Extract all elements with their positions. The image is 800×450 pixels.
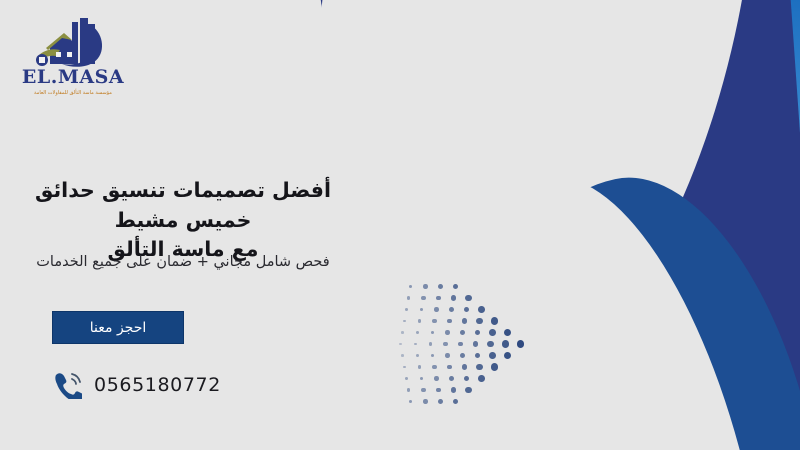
chevron-dot bbox=[462, 364, 468, 370]
chevron-dot bbox=[405, 308, 408, 311]
phone-number: 0565180772 bbox=[94, 374, 221, 396]
chevron-dot bbox=[431, 331, 435, 335]
chevron-dot bbox=[475, 330, 481, 336]
chevron-dot bbox=[478, 306, 485, 313]
chevron-dot bbox=[504, 352, 511, 359]
chevron-dot bbox=[487, 341, 493, 347]
brand-logo[interactable]: EL.MASA مؤسسة ماسة التألق للمقاولات العا… bbox=[14, 16, 132, 98]
chevron-dot bbox=[418, 319, 422, 323]
chevron-dot bbox=[432, 365, 436, 369]
page-title: أفضل تصميمات تنسيق حدائق خميس مشيط مع ما… bbox=[18, 176, 348, 265]
chevron-dot bbox=[491, 317, 498, 324]
chevron-dot bbox=[409, 400, 413, 404]
chevron-dot bbox=[431, 354, 435, 358]
chevron-dot bbox=[421, 388, 425, 392]
chevron-dot bbox=[445, 330, 450, 335]
chevron-dot bbox=[517, 340, 525, 348]
chevron-dot bbox=[451, 387, 457, 393]
chevron-dot bbox=[401, 331, 404, 334]
chevron-dot bbox=[407, 296, 411, 300]
chevron-dot bbox=[418, 365, 422, 369]
chevron-dot bbox=[436, 388, 441, 393]
chevron-dot bbox=[460, 353, 465, 358]
chevron-dot bbox=[460, 330, 465, 335]
chevron-dot bbox=[436, 296, 441, 301]
contact-phone[interactable]: 0565180772 bbox=[52, 371, 221, 399]
chevron-dot bbox=[502, 340, 509, 347]
chevron-dot bbox=[478, 375, 485, 382]
chevron-dot bbox=[449, 307, 454, 312]
chevron-dot bbox=[434, 307, 439, 312]
chevron-dot bbox=[453, 284, 459, 290]
chevron-dot bbox=[475, 353, 481, 359]
chevron-dot bbox=[449, 376, 454, 381]
chevron-dot bbox=[405, 377, 408, 380]
chevron-dot bbox=[445, 353, 450, 358]
chevron-dot bbox=[401, 354, 404, 357]
chevron-dot bbox=[421, 296, 425, 300]
chevron-dot bbox=[399, 343, 401, 345]
chevron-dot bbox=[473, 341, 479, 347]
chevron-dot bbox=[409, 285, 413, 289]
chevron-dot bbox=[414, 343, 417, 346]
chevron-dot bbox=[476, 364, 482, 370]
chevron-dot bbox=[416, 331, 419, 334]
house-building-logo-icon bbox=[36, 16, 110, 68]
chevron-dot bbox=[438, 399, 443, 404]
chevron-dot bbox=[489, 352, 496, 359]
phone-ringing-icon bbox=[52, 371, 82, 399]
chevron-dot bbox=[407, 388, 411, 392]
chevron-dot bbox=[438, 284, 443, 289]
chevron-dot bbox=[432, 319, 436, 323]
chevron-dot bbox=[447, 365, 452, 370]
dotted-chevron-right-icon bbox=[396, 282, 536, 412]
chevron-dot bbox=[464, 307, 470, 313]
chevron-dot bbox=[429, 342, 433, 346]
chevron-dot bbox=[403, 366, 406, 369]
chevron-dot bbox=[465, 295, 471, 301]
chevron-dot bbox=[443, 342, 447, 346]
chevron-dot bbox=[465, 387, 471, 393]
chevron-dot bbox=[416, 354, 419, 357]
chevron-dot bbox=[476, 318, 482, 324]
chevron-dot bbox=[434, 376, 439, 381]
chevron-dot bbox=[462, 318, 468, 324]
chevron-dot bbox=[447, 319, 452, 324]
book-now-button[interactable]: احجز معنا bbox=[52, 311, 184, 344]
chevron-dot bbox=[491, 363, 498, 370]
chevron-dot bbox=[504, 329, 511, 336]
promo-banner: EL.MASA مؤسسة ماسة التألق للمقاولات العا… bbox=[0, 0, 800, 450]
logo-wordmark: EL.MASA bbox=[14, 68, 132, 87]
chevron-dot bbox=[423, 399, 428, 404]
chevron-dot bbox=[464, 376, 470, 382]
chevron-dot bbox=[423, 284, 428, 289]
chevron-dot bbox=[420, 308, 424, 312]
chevron-dot bbox=[420, 377, 424, 381]
subheadline: فحص شامل مجاني + ضمان على جميع الخدمات bbox=[18, 254, 348, 270]
chevron-dot bbox=[489, 329, 496, 336]
chevron-dot bbox=[458, 342, 463, 347]
logo-subtitle: مؤسسة ماسة التألق للمقاولات العامة bbox=[14, 90, 132, 96]
chevron-dot bbox=[403, 320, 406, 323]
chevron-dot bbox=[451, 295, 457, 301]
headline-line-1: أفضل تصميمات تنسيق حدائق خميس مشيط bbox=[18, 176, 348, 235]
chevron-dot bbox=[453, 399, 459, 405]
